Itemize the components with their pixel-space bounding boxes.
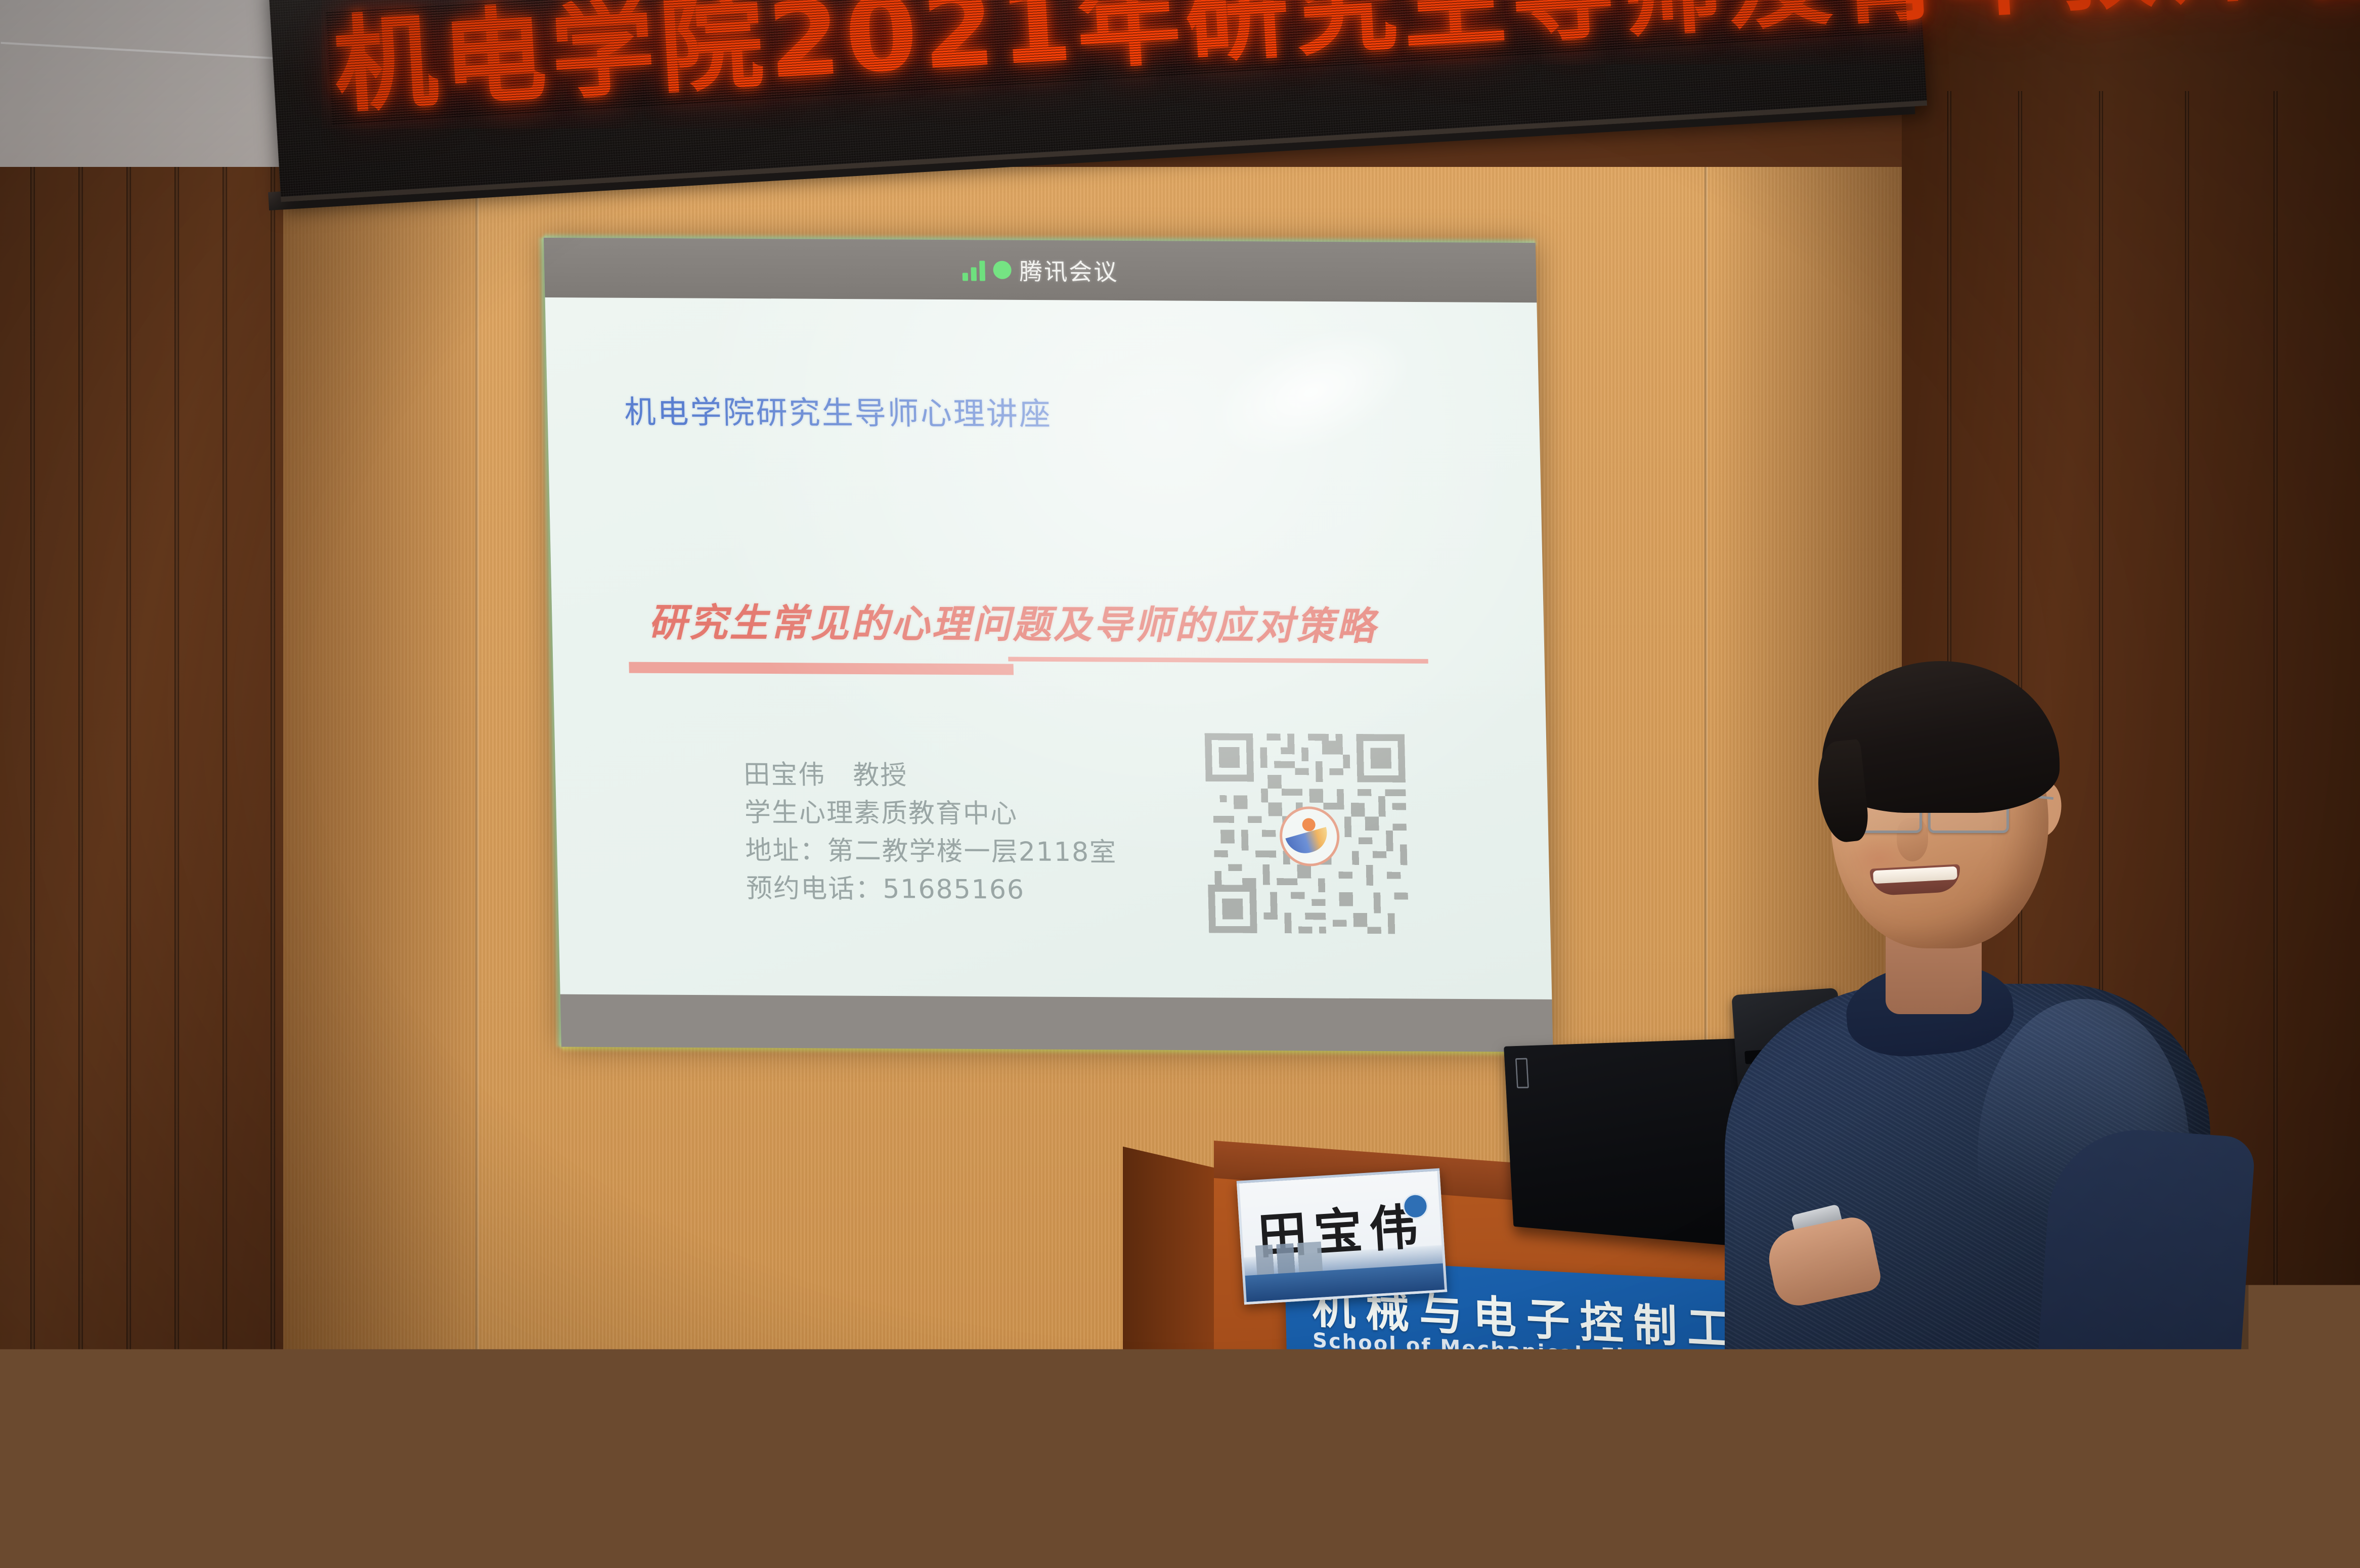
- slide-accent-bar-thick: [629, 662, 1014, 675]
- presenter-line: 预约电话：51685166: [746, 869, 1118, 909]
- signal-bars-icon: [962, 258, 985, 281]
- left-wall-paneling: [0, 167, 324, 1568]
- presenter-line: 学生心理素质教育中心: [744, 794, 1116, 834]
- presenter-line: 地址：第二教学楼一层2118室: [745, 832, 1117, 872]
- tencent-meeting-status-bar: 腾讯会议: [544, 238, 1537, 302]
- slide-accent-bar-thin: [1008, 657, 1428, 664]
- tencent-meeting-label: 腾讯会议: [1019, 253, 1119, 287]
- projector-hotspot: [1192, 301, 1431, 484]
- wall-shadow-left: [283, 167, 475, 1568]
- ceie-logo: [1404, 1382, 1689, 1494]
- presenter-line: 田宝伟 教授: [743, 756, 1115, 796]
- slide-presenter-info: 田宝伟 教授 学生心理素质教育中心 地址：第二教学楼一层2118室 预约电话：5…: [743, 756, 1118, 909]
- name-placard: 田宝伟: [1237, 1168, 1448, 1305]
- presenter-arm: [2023, 1124, 2256, 1568]
- green-status-dot-icon: [993, 261, 1012, 279]
- slide-title-text: 研究生常见的心理问题及导师的应对策略: [647, 591, 1377, 651]
- podium-side-panel: [1123, 1147, 1219, 1568]
- presenter-teeth: [1873, 866, 1957, 884]
- qr-code: [1205, 733, 1409, 934]
- slide-kicker-text: 机电学院研究生导师心理讲座: [624, 386, 1052, 434]
- chair-armrest-roll: [303, 1464, 405, 1568]
- wall-seam: [475, 167, 478, 1568]
- presenter: [1694, 615, 2241, 1568]
- screen-surface: 腾讯会议 机电学院研究生导师心理讲座 研究生常见的心理问题及导师的应对策略 田宝…: [544, 238, 1553, 1052]
- presentation-slide: 机电学院研究生导师心理讲座 研究生常见的心理问题及导师的应对策略 田宝伟 教授 …: [545, 297, 1552, 999]
- ceie-logo-mark: [1404, 1382, 1689, 1494]
- projection-screen: 腾讯会议 机电学院研究生导师心理讲座 研究生常见的心理问题及导师的应对策略 田宝…: [544, 238, 1553, 1052]
- lenovo-logo-icon: [1515, 1058, 1529, 1088]
- lecture-hall-photo: 机电学院2021年研究生导师及青年教师培训会 腾讯会议 机电学院研究生导师心理讲…: [0, 0, 2360, 1568]
